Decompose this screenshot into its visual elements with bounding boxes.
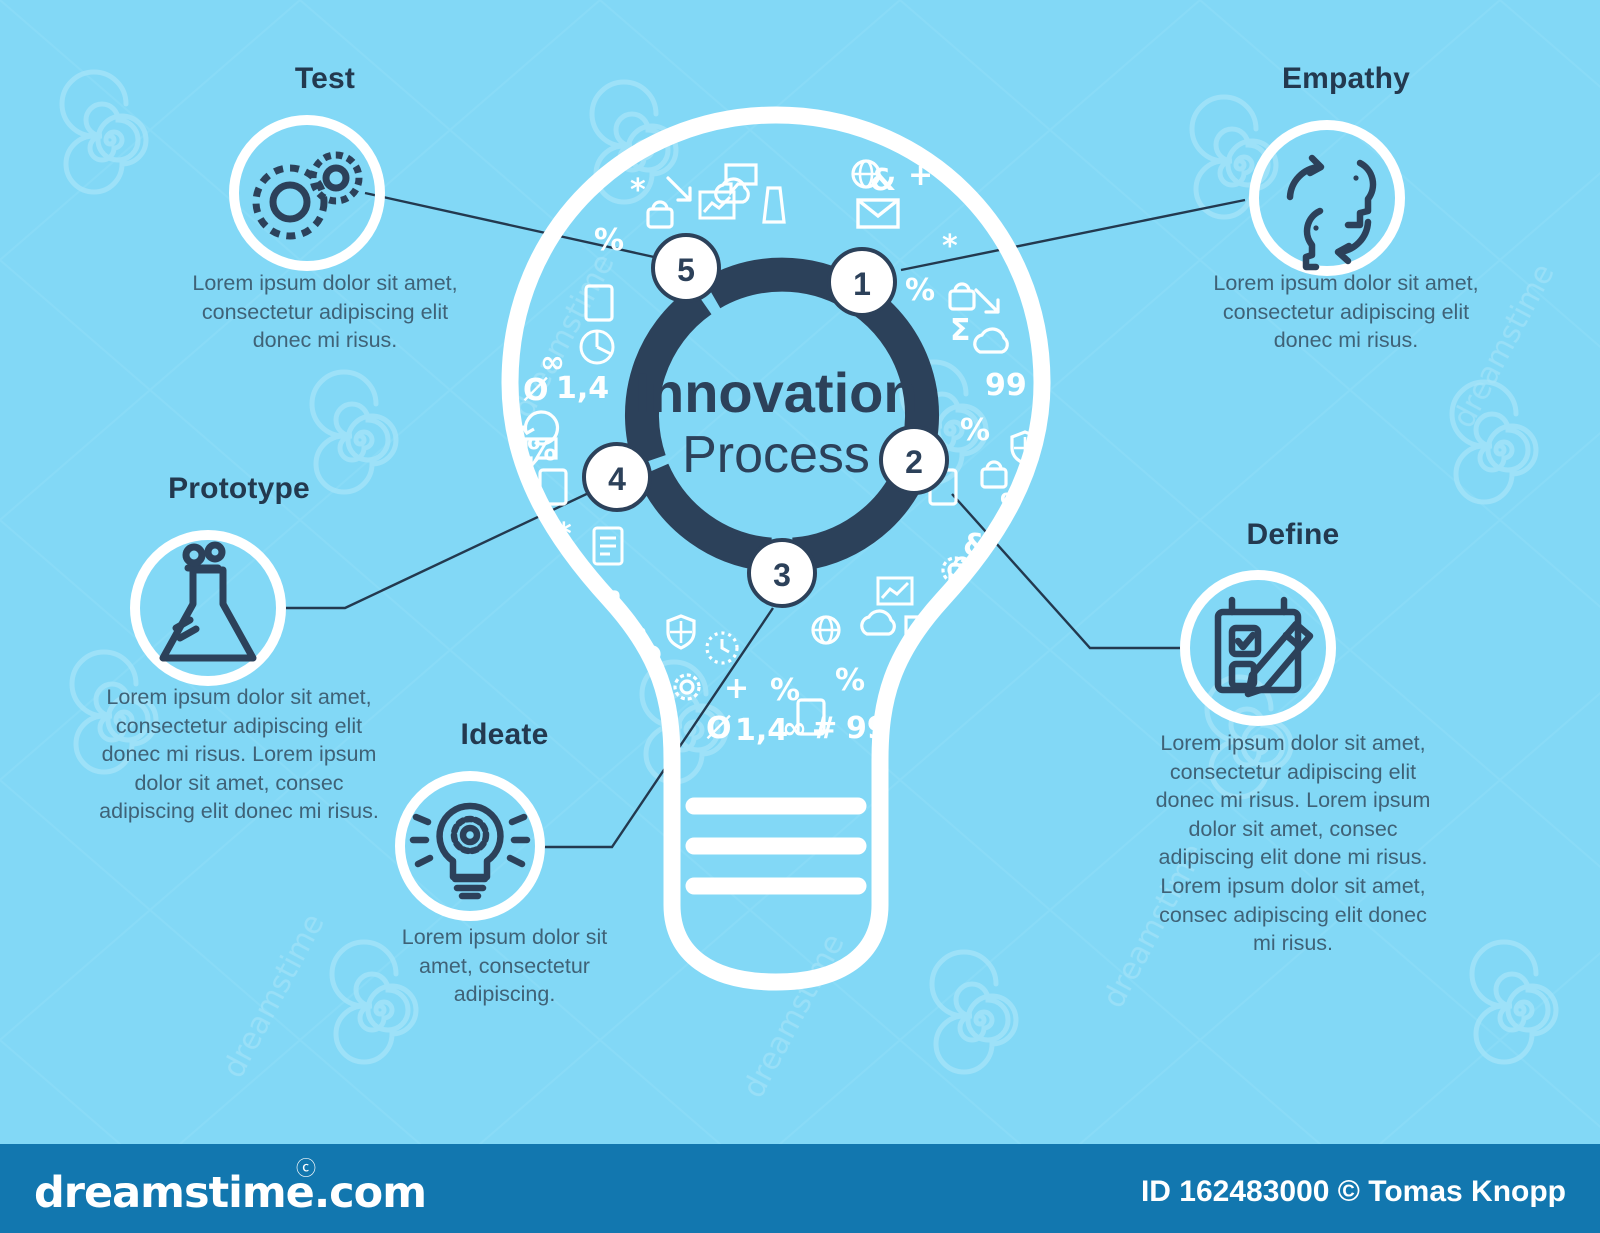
node-define-title: Define xyxy=(1148,518,1438,551)
node-test-title: Test xyxy=(180,62,470,95)
node-define-desc: Lorem ipsum dolor sit amet, consectetur … xyxy=(1148,729,1438,958)
node-define: Define Lorem ipsum dolor sit amet, conse… xyxy=(1148,518,1438,958)
footer-credit: ID 162483000 © Tomas Knopp xyxy=(1141,1175,1566,1209)
node-prototype-desc: Lorem ipsum dolor sit amet, consectetur … xyxy=(94,683,384,826)
node-test: Test Lorem ipsum dolor sit amet, consect… xyxy=(180,62,470,355)
node-empathy-title: Empathy xyxy=(1196,62,1496,95)
node-empathy: Empathy Lorem ipsum dolor sit amet, cons… xyxy=(1196,62,1496,355)
node-ideate: Ideate Lorem ipsum dolor sit amet, conse… xyxy=(372,718,637,1009)
dreamstime-logo-text: dreamstime.com xyxy=(34,1168,426,1218)
node-ideate-desc: Lorem ipsum dolor sit amet, consectetur … xyxy=(372,923,637,1009)
node-prototype-title: Prototype xyxy=(94,472,384,505)
node-ideate-title: Ideate xyxy=(372,718,637,751)
infographic-canvas: dreamstime dreamstime dreamstime dreamst… xyxy=(0,0,1600,1233)
node-test-desc: Lorem ipsum dolor sit amet, consectetur … xyxy=(180,269,470,355)
footer-bar: dreamstime.com ⓒ ID 162483000 © Tomas Kn… xyxy=(0,1144,1600,1233)
node-prototype: Prototype Lorem ipsum dolor sit amet, co… xyxy=(94,472,384,826)
registered-mark-icon: ⓒ xyxy=(296,1152,315,1181)
node-empathy-desc: Lorem ipsum dolor sit amet, consectetur … xyxy=(1196,269,1496,355)
dreamstime-logo[interactable]: dreamstime.com ⓒ xyxy=(34,1168,426,1218)
